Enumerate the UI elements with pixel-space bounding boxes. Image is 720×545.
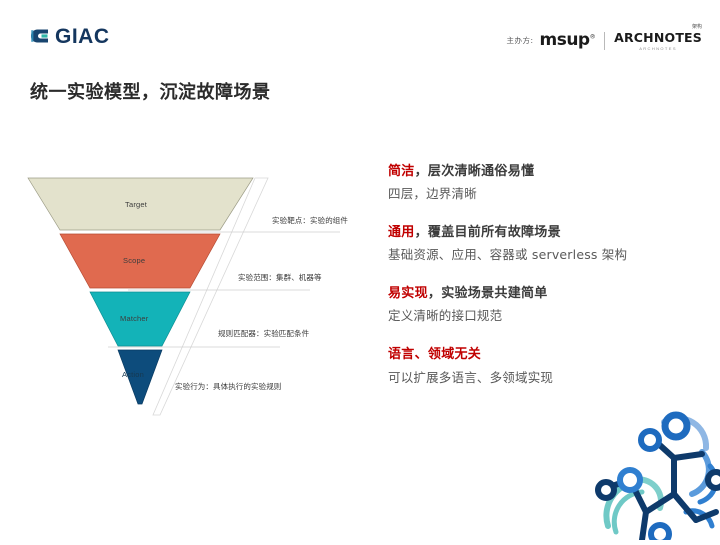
key-point-item: 易实现，实验场景共建简单 定义清晰的接口规范 — [388, 284, 698, 326]
key-point-item: 语言、领域无关 可以扩展多语言、多领域实现 — [388, 345, 698, 387]
key-point-keyword: 语言、领域无关 — [388, 347, 481, 362]
msup-logo: msup® — [540, 32, 596, 49]
key-point-subtext: 四层，边界清晰 — [388, 184, 698, 204]
key-point-heading: 通用，覆盖目前所有故障场景 — [388, 223, 698, 243]
funnel-callout-scope: 实验范围：集群、机器等 — [238, 272, 322, 283]
page-title: 统一实验模型，沉淀故障场景 — [30, 78, 271, 104]
molecule-network-decoration-icon — [590, 408, 720, 540]
funnel-diagram: Target Scope Matcher Action 实验靶点：实验的组件 实… — [10, 170, 360, 420]
archnotes-subtext: ARCHNOTES — [614, 47, 702, 51]
funnel-layer-label-scope: Scope — [123, 256, 145, 265]
archnotes-cn-label: 架构 — [692, 25, 702, 30]
sponsor-label: 主办方: — [506, 35, 533, 46]
key-point-heading-rest: ，层次清晰通俗易懂 — [415, 164, 535, 179]
key-point-subtext: 基础资源、应用、容器或 serverless 架构 — [388, 245, 698, 265]
sponsor-bar: 主办方: msup® ARCHNOTES 架构 ARCHNOTES — [506, 30, 702, 51]
key-point-subtext: 定义清晰的接口规范 — [388, 306, 698, 326]
key-point-item: 通用，覆盖目前所有故障场景 基础资源、应用、容器或 serverless 架构 — [388, 223, 698, 265]
funnel-callout-target: 实验靶点：实验的组件 — [272, 215, 348, 226]
key-point-heading: 易实现，实验场景共建简单 — [388, 284, 698, 304]
slide-header: GIAC 主办方: msup® ARCHNOTES 架构 ARCHNOTES — [0, 0, 720, 66]
key-point-item: 简洁，层次清晰通俗易懂 四层，边界清晰 — [388, 162, 698, 204]
key-points-list: 简洁，层次清晰通俗易懂 四层，边界清晰 通用，覆盖目前所有故障场景 基础资源、应… — [388, 162, 698, 407]
key-point-heading: 简洁，层次清晰通俗易懂 — [388, 162, 698, 182]
funnel-layer-label-action: Action — [122, 370, 144, 379]
key-point-subtext: 可以扩展多语言、多领域实现 — [388, 368, 698, 388]
key-point-heading: 语言、领域无关 — [388, 345, 698, 365]
msup-wordmark: msup — [540, 30, 590, 50]
msup-registered-mark: ® — [590, 33, 596, 40]
giac-logo-mark-icon — [28, 24, 52, 48]
funnel-layer-label-matcher: Matcher — [120, 314, 149, 323]
key-point-keyword: 易实现 — [388, 286, 428, 301]
funnel-layer-label-target: Target — [125, 200, 147, 209]
giac-logo: GIAC — [28, 24, 110, 48]
key-point-keyword: 简洁 — [388, 164, 415, 179]
key-point-keyword: 通用 — [388, 225, 415, 240]
sponsor-divider — [604, 32, 605, 50]
archnotes-wordmark: ARCHNOTES — [614, 30, 702, 45]
archnotes-logo: ARCHNOTES 架构 ARCHNOTES — [614, 30, 702, 51]
key-point-heading-rest: ，覆盖目前所有故障场景 — [415, 225, 561, 240]
funnel-callout-matcher: 规则匹配器：实验匹配条件 — [218, 328, 309, 339]
funnel-callout-action: 实验行为：具体执行的实验规则 — [175, 381, 281, 392]
key-point-heading-rest: ，实验场景共建简单 — [428, 286, 548, 301]
giac-wordmark: GIAC — [55, 26, 110, 47]
